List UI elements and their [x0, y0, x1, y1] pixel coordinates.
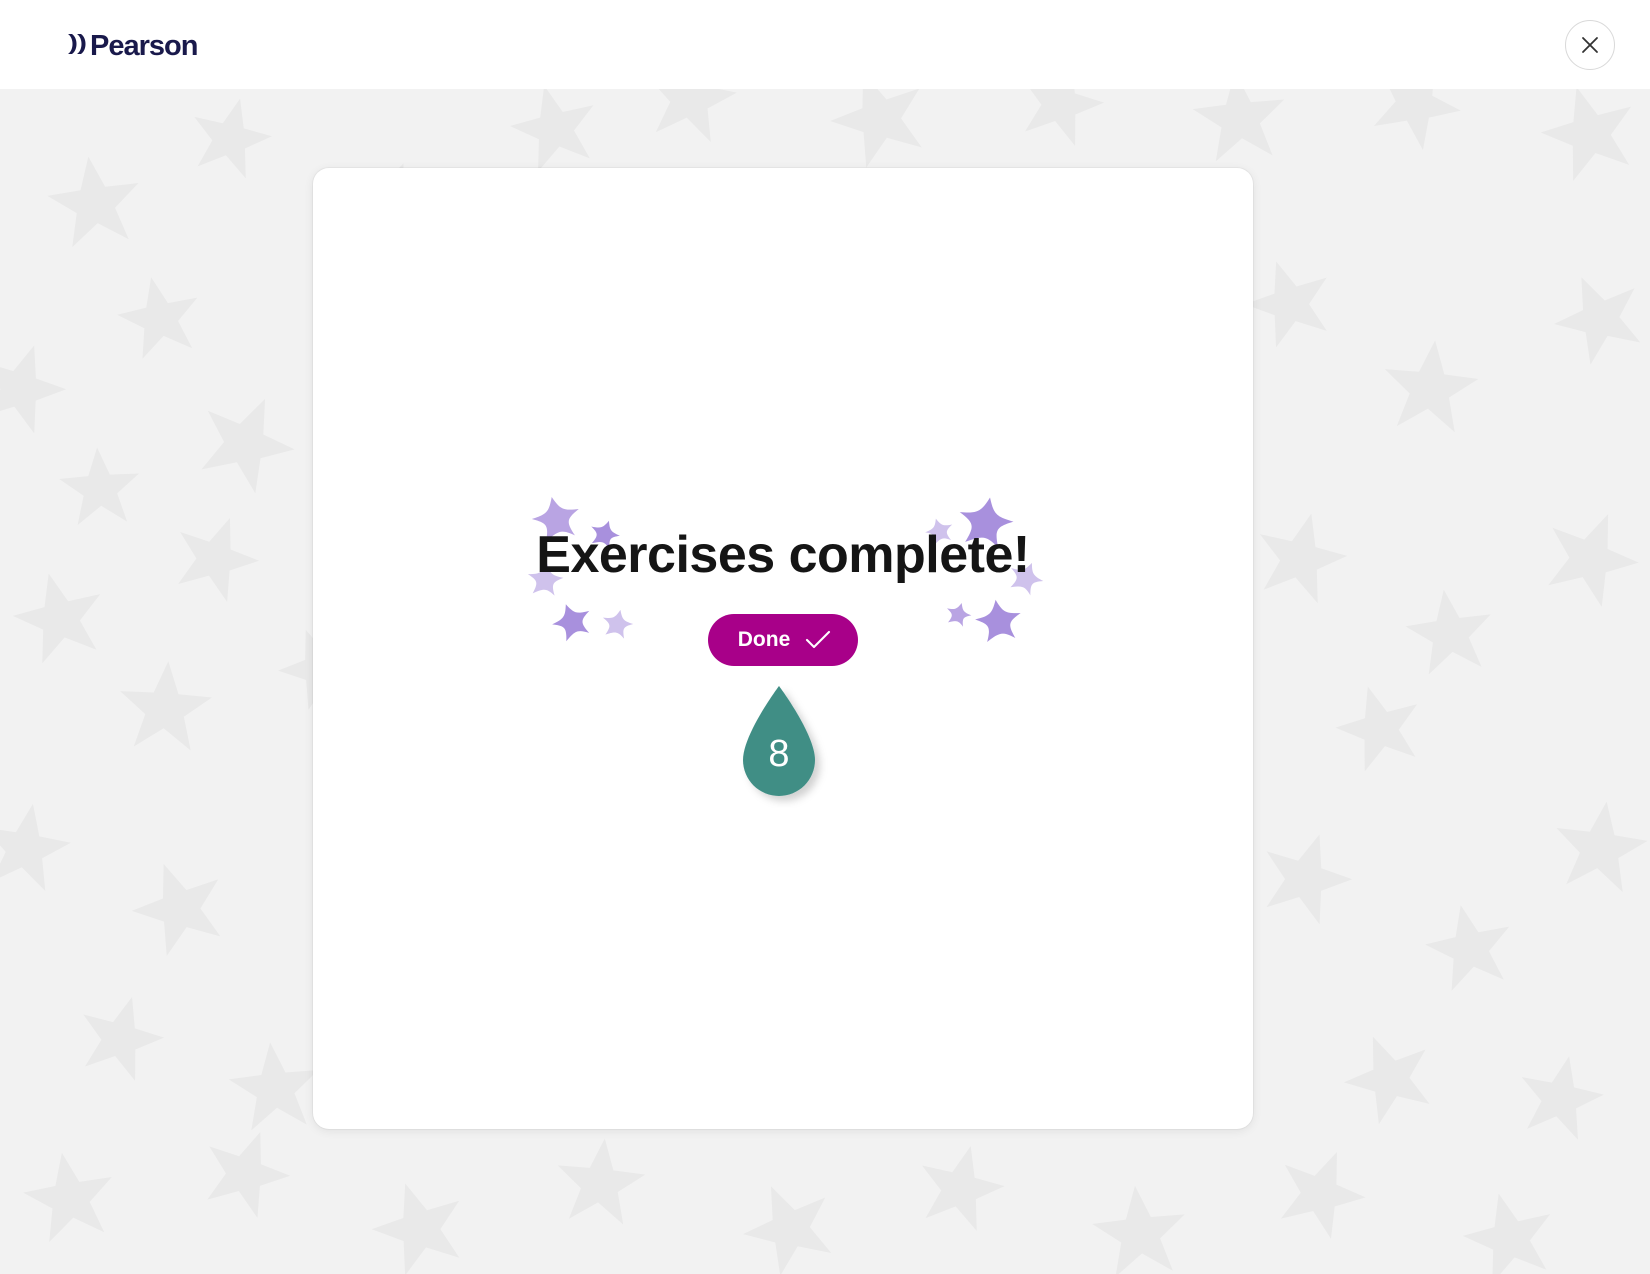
score-drop: 8: [733, 684, 833, 808]
page-title: Exercises complete!: [536, 525, 1029, 585]
exercise-complete-card: Exercises complete! Done 8: [313, 168, 1253, 1129]
done-button[interactable]: Done: [708, 614, 859, 666]
svg-text:Pearson: Pearson: [90, 30, 197, 62]
title-row: Exercises complete!: [313, 500, 1253, 610]
app-root: Pearson Pearson: [0, 0, 1650, 1274]
close-x-icon: [1579, 34, 1601, 56]
done-button-label: Done: [738, 628, 791, 652]
pearson-logo: Pearson Pearson: [66, 24, 206, 66]
close-button[interactable]: [1565, 20, 1615, 70]
app-header: Pearson Pearson: [0, 0, 1650, 89]
check-icon: [804, 629, 832, 651]
teardrop-icon: [743, 686, 815, 796]
celebration-block: Exercises complete! Done 8: [313, 500, 1253, 808]
